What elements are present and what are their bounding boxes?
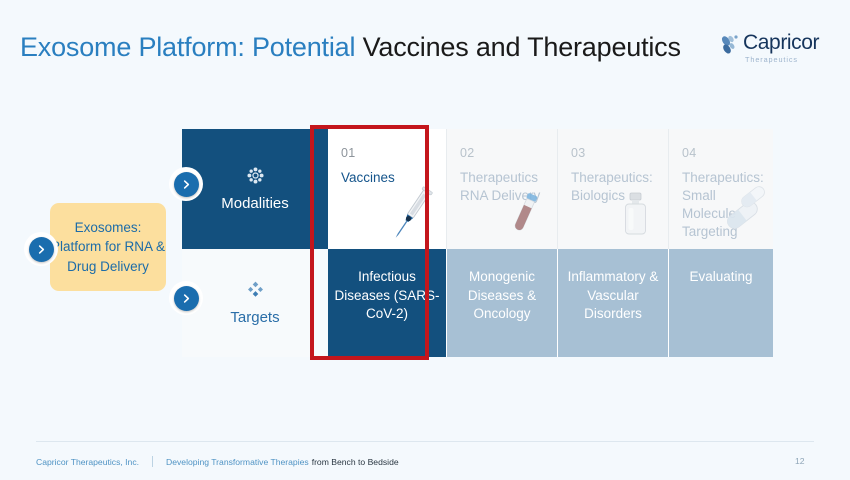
logo-subtitle: Therapeutics [745, 55, 819, 64]
footer-tagline-dark: from Bench to Bedside [312, 457, 399, 467]
slide-footer: Capricor Therapeutics, Inc. Developing T… [36, 456, 399, 467]
footer-separator [152, 456, 153, 467]
footer-divider [36, 441, 814, 442]
exosomes-callout: Exosomes: Platform for RNA & Drug Delive… [50, 203, 166, 291]
capsule-pills-icon [711, 179, 769, 245]
chevron-puck-targets[interactable] [169, 281, 203, 315]
row-label-modalities-text: Modalities [221, 195, 289, 212]
logo-wordmark: Capricor Therapeutics [743, 32, 819, 64]
matrix-row-modalities: Modalities 01 Vaccines [182, 129, 773, 249]
page-title-blue: Exosome Platform: Potential [20, 32, 355, 62]
modality-number: 01 [341, 147, 446, 160]
capricor-helix-icon [718, 33, 742, 63]
chevron-right-icon [174, 286, 199, 311]
page-number: 12 [795, 456, 805, 466]
page-title-dark: Vaccines and Therapeutics [363, 32, 681, 62]
target-cell-monogenic-oncology[interactable]: Monogenic Diseases & Oncology [446, 249, 557, 357]
logo-name: Capricor [743, 32, 819, 53]
row-label-targets-text: Targets [230, 309, 279, 326]
gear-flower-icon [247, 167, 264, 189]
platform-matrix: Modalities 01 Vaccines [182, 129, 773, 357]
target-text: Inflammatory & Vascular Disorders [558, 268, 668, 324]
exosomes-callout-text: Exosomes: Platform for RNA & Drug Delive… [50, 218, 166, 276]
row-label-modalities: Modalities [182, 129, 328, 249]
modality-cell-small-molecule[interactable]: 04 Therapeutics: Small Molecule Targetin… [668, 129, 773, 249]
modality-number: 03 [571, 147, 668, 160]
target-text: Infectious Diseases (SARS-CoV-2) [328, 268, 446, 324]
modality-number: 04 [682, 147, 773, 160]
target-text: Evaluating [684, 268, 757, 287]
chevron-right-icon [174, 172, 199, 197]
footer-tagline-blue: Developing Transformative Therapies [166, 457, 309, 467]
chevron-puck-modalities[interactable] [169, 167, 203, 201]
modality-cell-biologics[interactable]: 03 Therapeutics: Biologics [557, 129, 668, 249]
modality-number: 02 [460, 147, 557, 160]
row-label-targets: Targets [182, 249, 328, 357]
footer-company: Capricor Therapeutics, Inc. [36, 457, 139, 467]
matrix-row-targets: Targets Infectious Diseases (SARS-CoV-2)… [182, 249, 773, 357]
modality-cell-rna-delivery[interactable]: 02 Therapeutics RNA Delivery [446, 129, 557, 249]
target-cell-evaluating[interactable]: Evaluating [668, 249, 773, 357]
diamond-cluster-icon [246, 281, 265, 304]
target-text: Monogenic Diseases & Oncology [447, 268, 557, 324]
page-title: Exosome Platform: Potential Vaccines and… [20, 33, 681, 63]
syringe-icon [384, 179, 442, 245]
chevron-puck-platform[interactable] [24, 232, 58, 266]
capricor-logo: Capricor Therapeutics [718, 26, 830, 70]
blood-vial-icon [495, 179, 553, 245]
medicine-bottle-icon [606, 179, 664, 245]
modality-cell-vaccines[interactable]: 01 Vaccines [328, 129, 446, 249]
target-cell-inflammatory-vascular[interactable]: Inflammatory & Vascular Disorders [557, 249, 668, 357]
target-cell-infectious-diseases[interactable]: Infectious Diseases (SARS-CoV-2) [328, 249, 446, 357]
chevron-right-icon [29, 237, 54, 262]
